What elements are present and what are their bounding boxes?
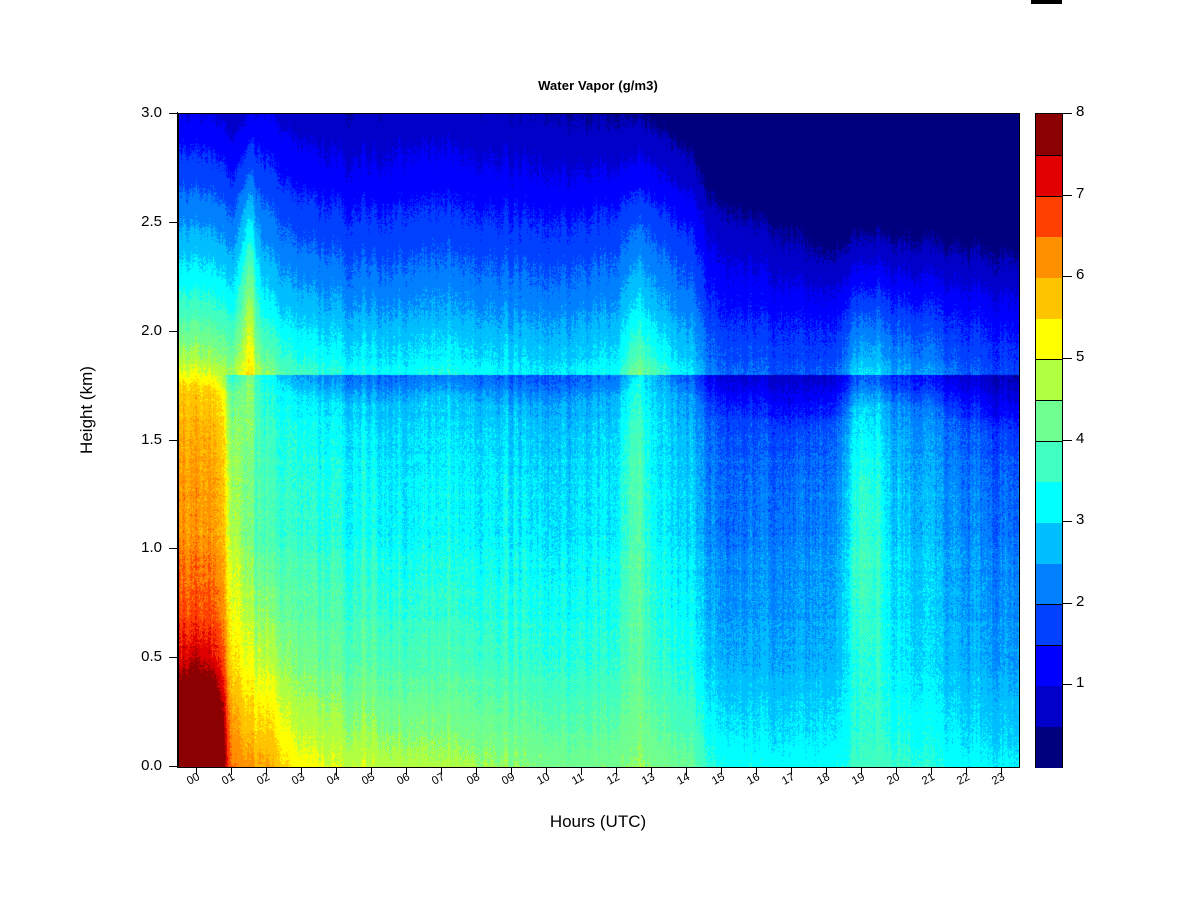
x-tick-label: 03 bbox=[290, 771, 307, 788]
colorbar-band bbox=[1036, 155, 1062, 196]
colorbar-tick-label: 3 bbox=[1076, 511, 1084, 528]
x-tick-label: 08 bbox=[465, 771, 482, 788]
x-tick-label: 13 bbox=[640, 771, 657, 788]
x-tick-label: 10 bbox=[535, 771, 552, 788]
colorbar-band bbox=[1036, 236, 1062, 277]
y-tick-label: 1.5 bbox=[122, 431, 162, 448]
colorbar-band bbox=[1036, 726, 1062, 767]
x-tick-label: 00 bbox=[185, 771, 202, 788]
x-tick-label: 01 bbox=[220, 771, 237, 788]
heatmap-plot-area[interactable] bbox=[178, 113, 1020, 768]
y-tick-mark bbox=[169, 766, 177, 767]
y-tick-mark bbox=[169, 113, 177, 114]
heatmap-canvas bbox=[179, 114, 1019, 767]
y-tick-mark bbox=[169, 440, 177, 441]
x-tick-label: 23 bbox=[990, 771, 1007, 788]
colorbar-band bbox=[1036, 522, 1062, 563]
x-tick-label: 05 bbox=[360, 771, 377, 788]
colorbar-tick-label: 5 bbox=[1076, 348, 1084, 365]
x-tick-label: 07 bbox=[430, 771, 447, 788]
colorbar-band bbox=[1036, 645, 1062, 686]
y-axis-line bbox=[177, 112, 178, 767]
y-tick-mark bbox=[169, 657, 177, 658]
x-tick-label: 15 bbox=[710, 771, 727, 788]
colorbar-band bbox=[1036, 114, 1062, 155]
x-tick-label: 17 bbox=[780, 771, 797, 788]
y-tick-label: 0.5 bbox=[122, 648, 162, 665]
y-tick-label: 2.5 bbox=[122, 213, 162, 230]
x-tick-label: 09 bbox=[500, 771, 517, 788]
colorbar-tick-label: 2 bbox=[1076, 593, 1084, 610]
y-tick-mark bbox=[169, 548, 177, 549]
colorbar-tick-label: 4 bbox=[1076, 430, 1084, 447]
colorbar-tick-mark bbox=[1063, 603, 1072, 604]
figure-canvas: Water Vapor (g/m3) 0.00.51.01.52.02.53.0… bbox=[0, 0, 1200, 900]
x-tick-label: 14 bbox=[675, 771, 692, 788]
y-tick-label: 3.0 bbox=[122, 104, 162, 121]
colorbar-band bbox=[1036, 481, 1062, 522]
colorbar-tick-label: 1 bbox=[1076, 674, 1084, 691]
x-tick-label: 19 bbox=[850, 771, 867, 788]
y-tick-label: 1.0 bbox=[122, 539, 162, 556]
colorbar-band bbox=[1036, 685, 1062, 726]
plot-title: Water Vapor (g/m3) bbox=[178, 78, 1018, 93]
x-tick-label: 18 bbox=[815, 771, 832, 788]
y-tick-label: 2.0 bbox=[122, 322, 162, 339]
x-tick-label: 04 bbox=[325, 771, 342, 788]
x-tick-label: 11 bbox=[570, 771, 586, 787]
colorbar-band bbox=[1036, 604, 1062, 645]
colorbar-tick-mark bbox=[1063, 195, 1072, 196]
colorbar-tick-label: 8 bbox=[1076, 103, 1084, 120]
x-axis-line bbox=[177, 767, 1019, 768]
colorbar-band bbox=[1036, 318, 1062, 359]
colorbar-band bbox=[1036, 277, 1062, 318]
x-tick-label: 21 bbox=[920, 771, 937, 788]
colorbar-band bbox=[1036, 196, 1062, 237]
x-tick-label: 20 bbox=[885, 771, 902, 788]
x-tick-label: 22 bbox=[955, 771, 972, 788]
clipped-toolbar-artifact bbox=[1031, 0, 1062, 4]
colorbar-tick-label: 6 bbox=[1076, 266, 1084, 283]
colorbar-tick-mark bbox=[1063, 440, 1072, 441]
x-axis-title: Hours (UTC) bbox=[178, 812, 1018, 832]
y-tick-label: 0.0 bbox=[122, 757, 162, 774]
y-tick-mark bbox=[169, 331, 177, 332]
colorbar-band bbox=[1036, 563, 1062, 604]
colorbar-tick-mark bbox=[1063, 521, 1072, 522]
colorbar-band bbox=[1036, 359, 1062, 400]
colorbar[interactable] bbox=[1035, 113, 1063, 768]
colorbar-tick-mark bbox=[1063, 113, 1072, 114]
colorbar-band bbox=[1036, 400, 1062, 441]
y-tick-mark bbox=[169, 222, 177, 223]
colorbar-band bbox=[1036, 441, 1062, 482]
colorbar-tick-label: 7 bbox=[1076, 185, 1084, 202]
x-tick-label: 02 bbox=[255, 771, 272, 788]
x-tick-label: 16 bbox=[745, 771, 762, 788]
x-tick-label: 06 bbox=[395, 771, 412, 788]
y-axis-title: Height (km) bbox=[77, 310, 97, 510]
colorbar-tick-mark bbox=[1063, 358, 1072, 359]
colorbar-tick-mark bbox=[1063, 684, 1072, 685]
colorbar-tick-mark bbox=[1063, 276, 1072, 277]
x-tick-label: 12 bbox=[605, 771, 622, 788]
